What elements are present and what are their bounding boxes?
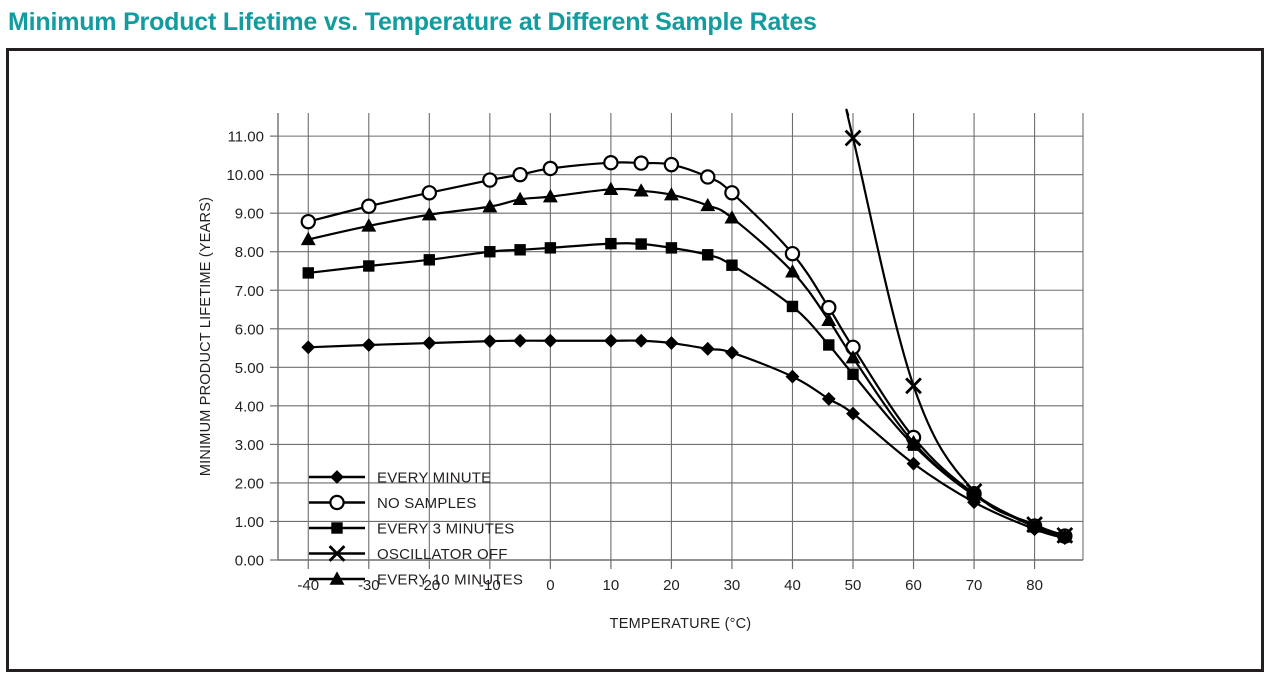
y-tick-label: 8.00 bbox=[235, 244, 264, 261]
y-tick-label: 6.00 bbox=[235, 321, 264, 338]
legend-label-3: OSCILLATOR OFF bbox=[377, 546, 508, 563]
legend-marker-1 bbox=[330, 496, 343, 509]
x-tick-label: 20 bbox=[663, 577, 680, 594]
y-axis-title: MINIMUM PRODUCT LIFETIME (YEARS) bbox=[198, 197, 214, 476]
series-0 bbox=[302, 335, 1071, 545]
y-tick-label: 3.00 bbox=[235, 437, 264, 454]
legend-marker-0 bbox=[331, 471, 343, 483]
plot-area: 0.001.002.003.004.005.006.007.008.009.00… bbox=[9, 51, 1267, 675]
y-tick-label: 2.00 bbox=[235, 475, 264, 492]
grid-lines bbox=[278, 113, 1083, 560]
y-tick-label: 4.00 bbox=[235, 398, 264, 415]
y-tick-label: 11.00 bbox=[228, 129, 264, 146]
x-tick-label: 40 bbox=[784, 577, 801, 594]
x-tick-label: 80 bbox=[1026, 577, 1043, 594]
legend-label-2: EVERY 3 MINUTES bbox=[377, 521, 515, 538]
y-tick-label: 1.00 bbox=[235, 514, 264, 531]
x-tick-label: 50 bbox=[845, 577, 862, 594]
y-tick-label: 0.00 bbox=[235, 553, 264, 570]
legend-marker-2 bbox=[332, 523, 342, 533]
x-axis-title: TEMPERATURE (°C) bbox=[610, 616, 752, 632]
y-tick-label: 7.00 bbox=[235, 283, 264, 300]
legend-label-4: EVERY 10 MINUTES bbox=[377, 572, 523, 589]
legend-label-1: NO SAMPLES bbox=[377, 495, 477, 512]
legend-label-0: EVERY MINUTE bbox=[377, 470, 491, 487]
figure-frame: 0.001.002.003.004.005.006.007.008.009.00… bbox=[6, 48, 1264, 672]
x-tick-label: 70 bbox=[966, 577, 983, 594]
series-4 bbox=[302, 183, 1072, 542]
chart-svg: 0.001.002.003.004.005.006.007.008.009.00… bbox=[9, 51, 1267, 675]
x-tick-label: 10 bbox=[603, 577, 620, 594]
figure-page: Minimum Product Lifetime vs. Temperature… bbox=[0, 0, 1272, 680]
legend: EVERY MINUTENO SAMPLESEVERY 3 MINUTESOSC… bbox=[309, 470, 523, 589]
x-tick-label: 0 bbox=[546, 577, 554, 594]
y-tick-label: 9.00 bbox=[235, 206, 264, 223]
y-tick-label: 10.00 bbox=[226, 167, 264, 184]
x-tick-label: 30 bbox=[724, 577, 741, 594]
y-axis: 0.001.002.003.004.005.006.007.008.009.00… bbox=[226, 129, 278, 570]
x-tick-label: 60 bbox=[905, 577, 922, 594]
y-tick-label: 5.00 bbox=[235, 360, 264, 377]
page-title: Minimum Product Lifetime vs. Temperature… bbox=[8, 2, 1248, 42]
